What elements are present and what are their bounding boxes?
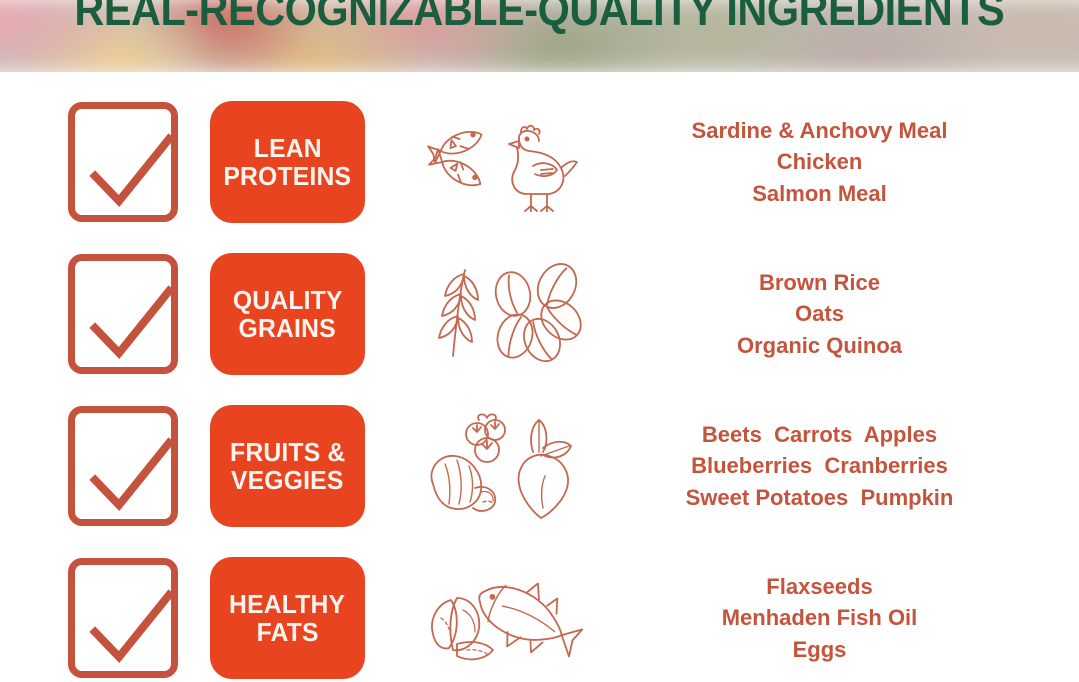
badge-quality-grains[interactable]: QUALITY GRAINS: [210, 253, 365, 375]
badge-line-2: PROTEINS: [224, 162, 352, 190]
checkbox-cell: [0, 102, 210, 222]
checkbox-healthy-fats[interactable]: [68, 558, 178, 678]
badge-cell: QUALITY GRAINS: [210, 253, 410, 375]
ingredient-line: Sweet Potatoes Pumpkin: [686, 482, 954, 513]
ingredient-line: Organic Quinoa: [737, 330, 902, 361]
ingredient-row: HEALTHY FATS: [0, 542, 1079, 682]
ingredient-line: Salmon Meal: [752, 178, 886, 209]
vegetables-and-berries-icon: [425, 412, 585, 520]
fish-and-chicken-icon: [425, 112, 585, 212]
badge-line-1: HEALTHY: [229, 590, 345, 618]
badge-cell: FRUITS & VEGGIES: [210, 405, 410, 527]
icon-cell: [410, 262, 600, 366]
badge-cell: HEALTHY FATS: [210, 557, 410, 679]
badge-healthy-fats[interactable]: HEALTHY FATS: [210, 557, 365, 679]
checkmark-icon: [83, 119, 179, 219]
badge-line-2: GRAINS: [239, 314, 336, 342]
ingredient-line: Oats: [795, 298, 844, 329]
icon-cell: [410, 112, 600, 212]
ingredient-rows: LEAN PROTEINS: [0, 72, 1079, 682]
badge-line-1: QUALITY: [233, 286, 343, 314]
checkbox-cell: [0, 558, 210, 678]
ingredient-line: Chicken: [777, 146, 863, 177]
badge-line-1: FRUITS &: [230, 438, 345, 466]
checkbox-cell: [0, 254, 210, 374]
icon-cell: [410, 412, 600, 520]
page-title: REAL-RECOGNIZABLE-QUALITY INGREDIENTS: [0, 10, 1079, 62]
badge-line-1: LEAN: [253, 134, 321, 162]
ingredient-line: Eggs: [793, 634, 847, 665]
wheat-and-grains-icon: [425, 262, 585, 366]
ingredient-list: Brown Rice Oats Organic Quinoa: [600, 267, 1079, 361]
ingredient-list: Sardine & Anchovy Meal Chicken Salmon Me…: [600, 115, 1079, 209]
badge-line-2: FATS: [256, 618, 318, 646]
ingredient-line: Beets Carrots Apples: [702, 419, 937, 450]
ingredient-line: Blueberries Cranberries: [691, 450, 948, 481]
checkbox-quality-grains[interactable]: [68, 254, 178, 374]
ingredient-list: Beets Carrots Apples Blueberries Cranber…: [600, 419, 1079, 513]
checkmark-icon: [83, 271, 179, 371]
checkbox-lean-proteins[interactable]: [68, 102, 178, 222]
icon-cell: [410, 566, 600, 670]
checkmark-icon: [83, 575, 179, 675]
ingredient-row: LEAN PROTEINS: [0, 86, 1079, 238]
badge-cell: LEAN PROTEINS: [210, 101, 410, 223]
ingredient-row: FRUITS & VEGGIES: [0, 390, 1079, 542]
badge-fruits-veggies[interactable]: FRUITS & VEGGIES: [210, 405, 365, 527]
ingredients-infographic: REAL-RECOGNIZABLE-QUALITY INGREDIENTS LE…: [0, 0, 1079, 682]
badge-lean-proteins[interactable]: LEAN PROTEINS: [210, 101, 365, 223]
ingredient-line: Sardine & Anchovy Meal: [692, 115, 948, 146]
ingredient-line: Brown Rice: [759, 267, 880, 298]
ingredient-line: Menhaden Fish Oil: [722, 602, 918, 633]
header-banner: REAL-RECOGNIZABLE-QUALITY INGREDIENTS: [0, 0, 1079, 72]
badge-line-2: VEGGIES: [231, 466, 344, 494]
ingredient-line: Flaxseeds: [766, 571, 872, 602]
checkmark-icon: [83, 423, 179, 523]
ingredient-row: QUALITY GRAINS: [0, 238, 1079, 390]
ingredient-list: Flaxseeds Menhaden Fish Oil Eggs: [600, 571, 1079, 665]
page-title-text: REAL-RECOGNIZABLE-QUALITY INGREDIENTS: [75, 0, 1005, 36]
flaxseed-and-fish-icon: [425, 566, 585, 670]
checkbox-fruits-veggies[interactable]: [68, 406, 178, 526]
checkbox-cell: [0, 406, 210, 526]
